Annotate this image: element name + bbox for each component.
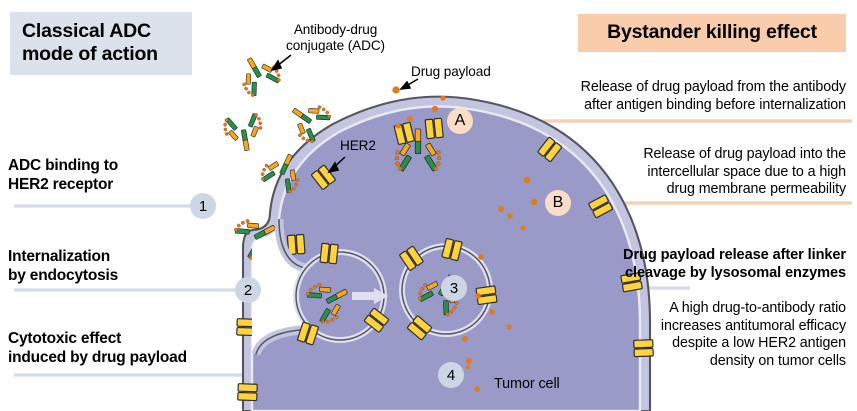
diagram-canvas: Classical ADC mode of action Bystander k… <box>0 0 857 411</box>
step-marker-3: 3 <box>441 275 467 301</box>
free-adc <box>232 49 283 99</box>
step-label-internalization: Internalization by endocytosis <box>8 248 118 286</box>
free-adc <box>222 112 266 154</box>
step-marker-2: 2 <box>235 277 261 303</box>
step-label-cytotoxic-effect: Cytotoxic effect induced by drug payload <box>8 330 187 368</box>
step-marker-4: 4 <box>438 362 464 388</box>
bystander-text-a: Release of drug payload from the antibod… <box>506 79 846 114</box>
banner-bystander-effect: Bystander killing effect <box>578 14 846 52</box>
bystander-marker-b: B <box>545 190 571 216</box>
step-label-adc-binding: ADC binding to HER2 receptor <box>8 157 118 195</box>
callout-drug-payload: Drug payload <box>411 64 491 80</box>
bystander-text-dar: A high drug-to-antibody ratio increases … <box>564 300 846 371</box>
callout-her2: HER2 <box>340 138 376 154</box>
bystander-text-b: Release of drug payload into the interce… <box>578 146 846 199</box>
bystander-text-linker-cleavage: Drug payload release after linker cleava… <box>576 246 846 282</box>
bystander-marker-a: A <box>447 108 473 134</box>
callout-antibody-drug-conjugate: Antibody-drug conjugate (ADC) <box>286 22 385 55</box>
step-marker-1: 1 <box>190 193 216 219</box>
banner-classical-adc: Classical ADC mode of action <box>10 12 192 75</box>
callout-tumor-cell: Tumor cell <box>494 376 560 393</box>
